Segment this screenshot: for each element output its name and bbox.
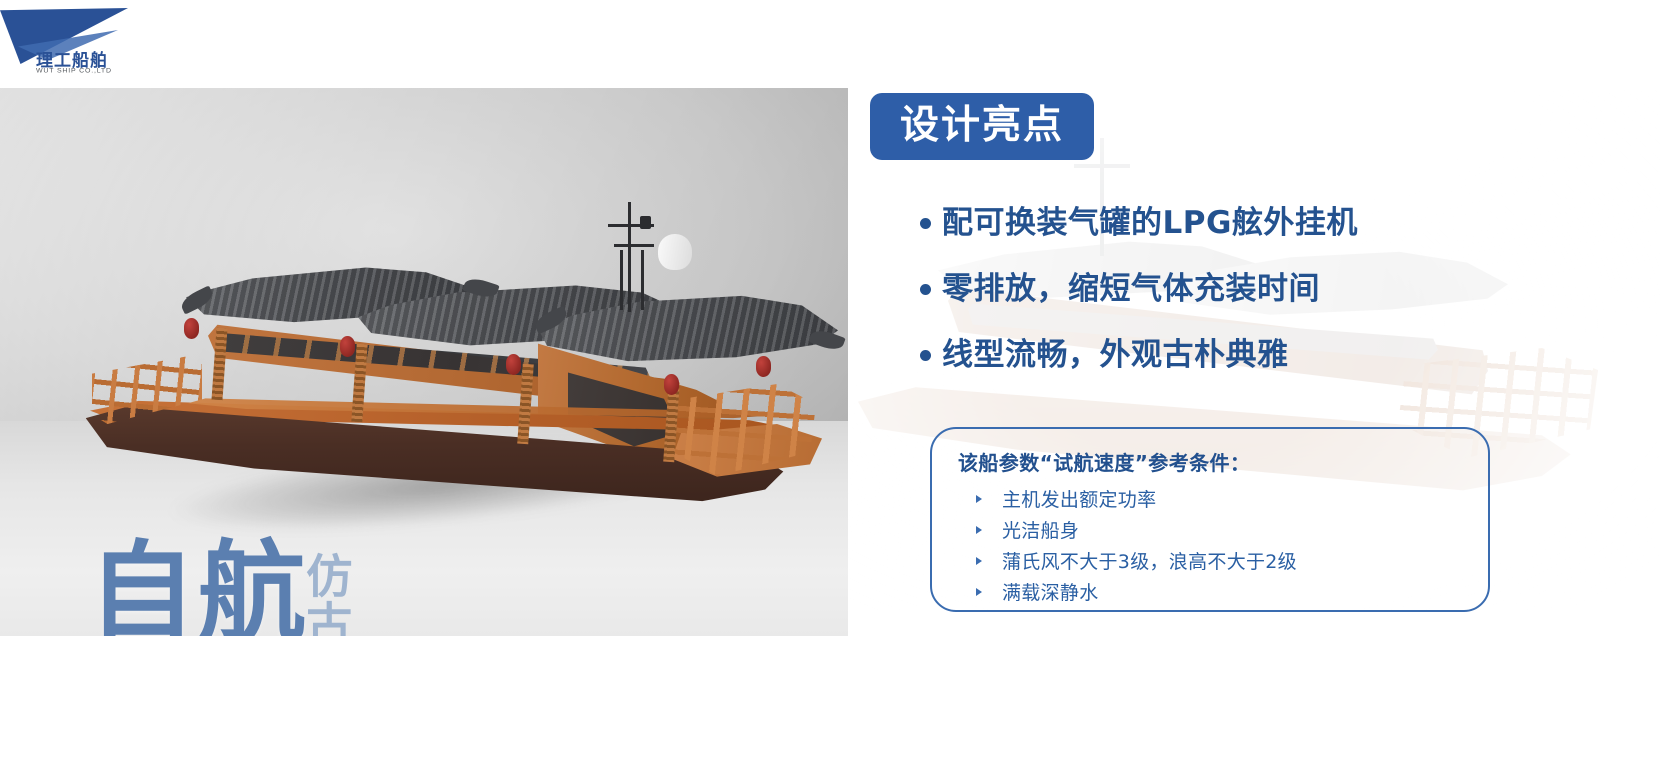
triangle-bullet-icon bbox=[976, 526, 982, 534]
note-list: 主机发出额定功率 光洁船身 蒲氏风不大于3级，浪高不大于2级 满载深静水 bbox=[958, 485, 1462, 610]
mast-crossarm-lower bbox=[614, 244, 654, 247]
mast-truss bbox=[620, 250, 644, 310]
content-pane: 设计亮点 配可换装气罐的LPG舷外挂机 零排放，缩短气体充装时间 线型流畅，外观… bbox=[848, 0, 1660, 777]
radar-dome bbox=[658, 234, 692, 270]
bullet-dot-icon bbox=[920, 284, 931, 295]
triangle-bullet-icon bbox=[976, 588, 982, 596]
note-item-text: 蒲氏风不大于3级，浪高不大于2级 bbox=[1002, 551, 1297, 573]
highlight-text: 零排放，缩短气体充装时间 bbox=[942, 271, 1320, 309]
render-overlay-caption: 自航 仿古 bbox=[88, 540, 418, 636]
overlay-subtitle: 仿古 bbox=[302, 552, 350, 636]
lantern-1 bbox=[184, 318, 199, 339]
ship-illustration bbox=[68, 188, 808, 548]
overlay-title: 自航 bbox=[88, 540, 418, 636]
highlight-item: 零排放，缩短气体充装时间 bbox=[920, 271, 1620, 309]
highlight-text: 配可换装气罐的LPG舷外挂机 bbox=[942, 205, 1358, 243]
reference-conditions-box: 该船参数“试航速度”参考条件： 主机发出额定功率 光洁船身 蒲氏风不大于3级，浪… bbox=[930, 427, 1490, 612]
logo-english-name: WUT SHIP CO.,LTD bbox=[36, 68, 112, 74]
note-item: 蒲氏风不大于3级，浪高不大于2级 bbox=[976, 547, 1462, 578]
highlight-list: 配可换装气罐的LPG舷外挂机 零排放，缩短气体充装时间 线型流畅，外观古朴典雅 bbox=[920, 205, 1620, 402]
lantern-3 bbox=[506, 354, 521, 375]
triangle-bullet-icon bbox=[976, 495, 982, 503]
note-item: 满载深静水 bbox=[976, 578, 1462, 609]
note-item: 光洁船身 bbox=[976, 516, 1462, 547]
note-title: 该船参数“试航速度”参考条件： bbox=[958, 447, 1462, 476]
note-item-text: 主机发出额定功率 bbox=[1002, 489, 1156, 511]
section-title: 设计亮点 bbox=[870, 93, 1094, 160]
mast-lamp bbox=[640, 216, 651, 229]
bullet-dot-icon bbox=[920, 350, 931, 361]
triangle-bullet-icon bbox=[976, 557, 982, 565]
note-item-text: 光洁船身 bbox=[1002, 520, 1079, 542]
lantern-5 bbox=[756, 356, 771, 377]
ship-render-panel: 自航 仿古 bbox=[0, 88, 848, 636]
note-item: 主机发出额定功率 bbox=[976, 485, 1462, 516]
lantern-2 bbox=[340, 336, 355, 357]
bullet-dot-icon bbox=[920, 218, 931, 229]
highlight-item: 配可换装气罐的LPG舷外挂机 bbox=[920, 205, 1620, 243]
highlight-text: 线型流畅，外观古朴典雅 bbox=[942, 337, 1289, 375]
note-item-text: 满载深静水 bbox=[1002, 582, 1099, 604]
lantern-4 bbox=[664, 374, 679, 395]
company-logo: 理工船舶 WUT SHIP CO.,LTD bbox=[0, 0, 210, 88]
highlight-item: 线型流畅，外观古朴典雅 bbox=[920, 337, 1620, 375]
